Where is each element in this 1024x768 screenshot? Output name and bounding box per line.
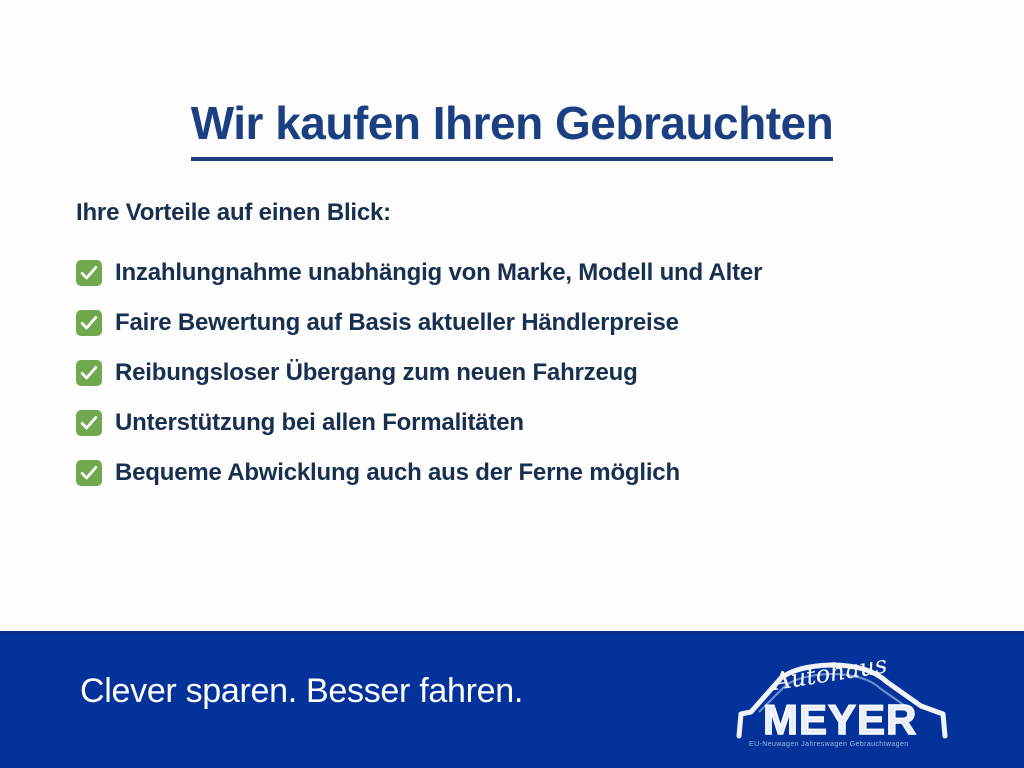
headline-container: Wir kaufen Ihren Gebrauchten <box>0 64 1024 192</box>
check-square-icon <box>76 310 102 336</box>
list-item-label: Faire Bewertung auf Basis aktueller Händ… <box>115 308 679 338</box>
logo-script-text: Autohaus <box>770 656 889 696</box>
logo-sub-text: EU-Neuwagen Jahreswagen Gebrauchtwagen <box>749 741 909 748</box>
list-item-label: Unterstützung bei allen Formalitäten <box>115 408 524 438</box>
list-item-label: Bequeme Abwicklung auch aus der Ferne mö… <box>115 458 680 488</box>
list-item: Reibungsloser Übergang zum neuen Fahrzeu… <box>76 348 762 398</box>
check-square-icon <box>76 260 102 286</box>
promo-slide: Wir kaufen Ihren Gebrauchten Ihre Vortei… <box>0 0 1024 768</box>
list-item: Unterstützung bei allen Formalitäten <box>76 398 762 448</box>
logo-word-text: MEYER <box>763 696 917 743</box>
list-item: Inzahlungnahme unabhängig von Marke, Mod… <box>76 248 762 298</box>
check-square-icon <box>76 410 102 436</box>
list-item-label: Inzahlungnahme unabhängig von Marke, Mod… <box>115 258 762 288</box>
footer-band: Clever sparen. Besser fahren. Autohaus M… <box>0 631 1024 768</box>
benefits-list: Inzahlungnahme unabhängig von Marke, Mod… <box>76 248 762 498</box>
footer-slogan: Clever sparen. Besser fahren. <box>80 670 523 712</box>
check-square-icon <box>76 360 102 386</box>
list-item-label: Reibungsloser Übergang zum neuen Fahrzeu… <box>115 358 638 388</box>
benefits-subheading: Ihre Vorteile auf einen Blick: <box>76 198 391 228</box>
page-title: Wir kaufen Ihren Gebrauchten <box>191 95 834 161</box>
list-item: Faire Bewertung auf Basis aktueller Händ… <box>76 298 762 348</box>
dealer-logo: Autohaus MEYER EU-Neuwagen Jahreswagen G… <box>735 656 950 752</box>
check-square-icon <box>76 460 102 486</box>
list-item: Bequeme Abwicklung auch aus der Ferne mö… <box>76 448 762 498</box>
